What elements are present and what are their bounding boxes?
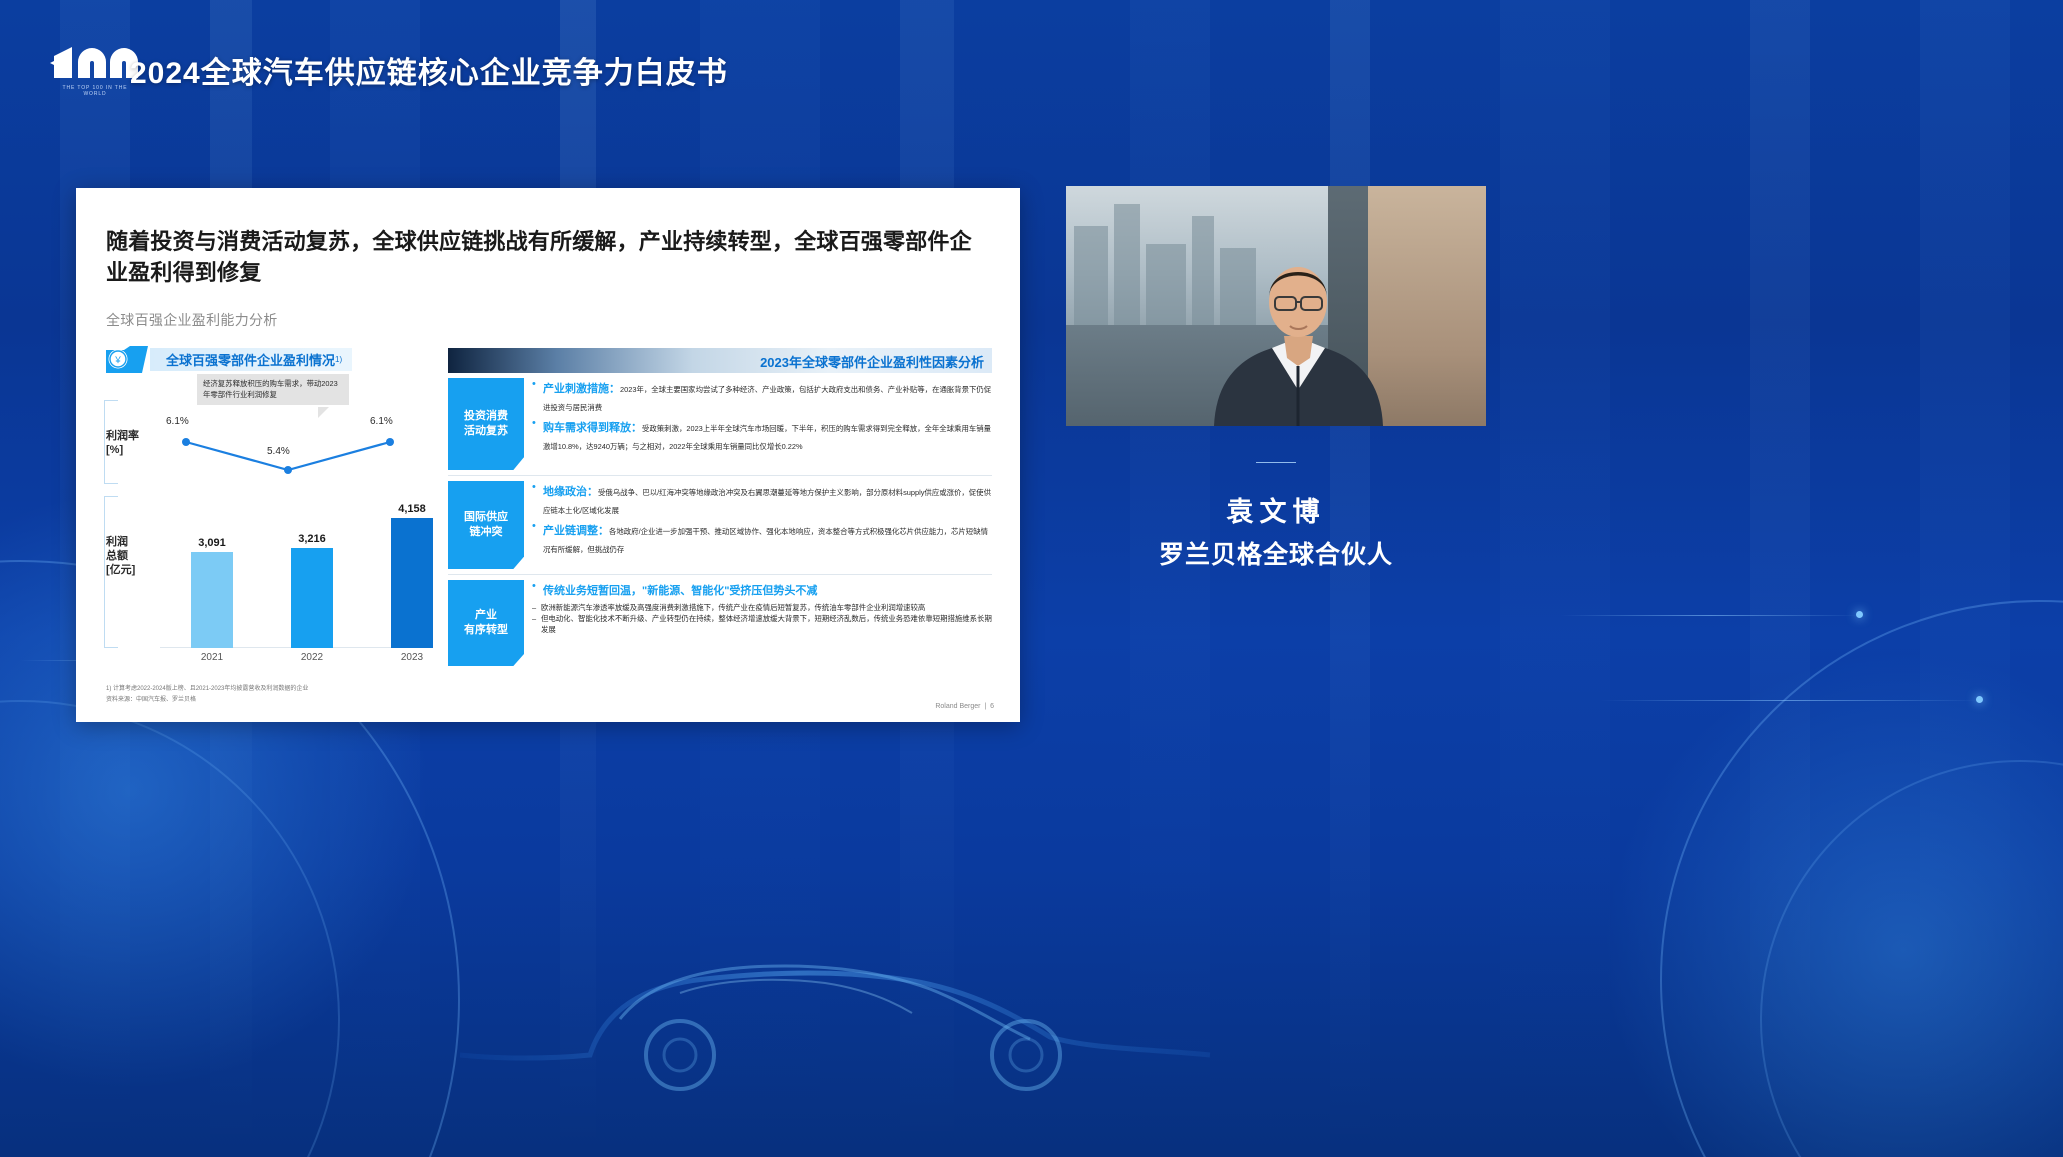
factor-body: 产业刺激措施：2023年，全球主要国家均尝试了多种经济、产业政策，包括扩大政府支… — [532, 378, 992, 470]
x-tick-2022: 2022 — [282, 652, 342, 663]
right-factor-panel: 2023年全球零部件企业盈利性因素分析 投资消费 活动复苏 产业刺激措施：202… — [448, 348, 992, 668]
factor-category-line1: 投资消费 — [464, 409, 508, 424]
factor-group-investment: 投资消费 活动复苏 产业刺激措施：2023年，全球主要国家均尝试了多种经济、产业… — [448, 373, 992, 470]
right-panel-header: 2023年全球零部件企业盈利性因素分析 — [448, 348, 992, 373]
factor-dash-item: 但电动化、智能化技术不断升级、产业转型仍在持续，整体经济增速放缓大背景下，短期经… — [532, 613, 992, 635]
left-chart-panel: ￥ 全球百强零部件企业盈利情况1) 经济复苏释放积压的购车需求，带动2023年零… — [104, 348, 434, 668]
bar-2021 — [191, 552, 233, 648]
factor-category-label: 产业 有序转型 — [448, 580, 524, 666]
bg-stripe — [1330, 0, 1370, 1157]
presentation-slide: 随着投资与消费活动复苏，全球供应链挑战有所缓解，产业持续转型，全球百强零部件企业… — [76, 188, 1020, 722]
decorative-dot — [1976, 696, 1983, 703]
factor-dash-item: 欧洲新能源汽车渗透率放缓及高强度消费刺激措施下，传统产业在疫情后短暂复苏，传统油… — [532, 602, 992, 613]
factor-bullet: 购车需求得到释放：受政策刺激，2023上半年全球汽车市场回暖，下半年，积压的购车… — [532, 418, 992, 454]
line-point-2023 — [386, 438, 394, 446]
factor-category-line1: 产业 — [475, 608, 497, 623]
x-tick-2021: 2021 — [182, 652, 242, 663]
header: THE TOP 100 IN THE WORLD 2024全球汽车供应链核心企业… — [0, 0, 2063, 140]
brand-name: Roland Berger — [935, 703, 980, 710]
car-silhouette — [430, 859, 1250, 1099]
bar-plot: 3,091 3,216 4,158 — [160, 504, 428, 648]
decorative-line — [1600, 700, 1980, 701]
factor-bullet-title: 产业刺激措施： — [543, 383, 620, 395]
chart-area: 经济复苏释放积压的购车需求，带动2023年零部件行业利润修复 利润率[%] 6.… — [104, 378, 434, 668]
factor-bullet: 产业刺激措施：2023年，全球主要国家均尝试了多种经济、产业政策，包括扩大政府支… — [532, 379, 992, 415]
decorative-dot — [1856, 611, 1863, 618]
left-panel-title: 全球百强零部件企业盈利情况1) — [150, 348, 352, 371]
factor-group-transformation: 产业 有序转型 传统业务短暂回温，"新能源、智能化"受挤压但势头不减 欧洲新能源… — [448, 575, 992, 666]
chart-callout-tail — [318, 407, 329, 418]
factor-body: 地缘政治：受俄乌战争、巴以/红海冲突等地缘政治冲突及右翼思潮蔓延等地方保护主义影… — [532, 481, 992, 569]
line-point-2021 — [182, 438, 190, 446]
line-value-2023: 6.1% — [370, 416, 393, 427]
factor-bullet-title: 产业链调整： — [543, 525, 609, 537]
slide-brand: Roland Berger | 6 — [935, 703, 994, 710]
factor-category-line2: 有序转型 — [464, 623, 508, 638]
bar-value-2022: 3,216 — [282, 533, 342, 545]
factor-bullet-title: 购车需求得到释放： — [543, 422, 642, 434]
footnote-1: 1) 计算考虑2022-2024版上榜、且2021-2023年均披露营收及利润数… — [106, 684, 308, 695]
x-tick-2023: 2023 — [382, 652, 442, 663]
footnotes: 1) 计算考虑2022-2024版上榜、且2021-2023年均披露营收及利润数… — [106, 684, 308, 707]
factor-category-label: 国际供应 链冲突 — [448, 481, 524, 569]
video-building — [1146, 244, 1186, 336]
bg-stripe — [1500, 0, 1610, 1157]
line-point-2022 — [284, 466, 292, 474]
factor-body: 传统业务短暂回温，"新能源、智能化"受挤压但势头不减 欧洲新能源汽车渗透率放缓及… — [532, 580, 992, 666]
factor-bullet-title: 地缘政治： — [543, 486, 598, 498]
speaker-avatar — [1206, 240, 1391, 426]
speaker-video-feed[interactable] — [1066, 186, 1486, 426]
factor-bullet-text: 受俄乌战争、巴以/红海冲突等地缘政治冲突及右翼思潮蔓延等地方保护主义影响，部分原… — [543, 488, 991, 515]
factor-bullet: 地缘政治：受俄乌战争、巴以/红海冲突等地缘政治冲突及右翼思潮蔓延等地方保护主义影… — [532, 482, 992, 518]
footnote-source: 资料来源：中国汽车报、罗兰贝格 — [106, 695, 308, 706]
left-panel-header: ￥ 全球百强零部件企业盈利情况1) — [104, 348, 434, 374]
speaker-divider — [1256, 462, 1296, 463]
bar-2022 — [291, 548, 333, 648]
factor-category-label: 投资消费 活动复苏 — [448, 378, 524, 470]
line-value-2021: 6.1% — [166, 416, 189, 427]
factor-category-line2: 链冲突 — [470, 525, 503, 540]
chart-callout: 经济复苏释放积压的购车需求，带动2023年零部件行业利润修复 — [197, 374, 349, 405]
logo-subtext: THE TOP 100 IN THE WORLD — [50, 85, 140, 97]
video-building — [1114, 204, 1140, 336]
factor-bullet: 产业链调整：各地政府/企业进一步加强干预、推动区域协作、强化本地响应，资本整合等… — [532, 521, 992, 557]
left-panel-title-text: 全球百强零部件企业盈利情况 — [166, 350, 335, 369]
factor-bullet-text: 各地政府/企业进一步加强干预、推动区域协作、强化本地响应，资本整合等方式积极强化… — [543, 527, 988, 554]
factor-bullet: 传统业务短暂回温，"新能源、智能化"受挤压但势头不减 — [532, 581, 992, 599]
factor-bullet-title: 传统业务短暂回温，"新能源、智能化"受挤压但势头不减 — [543, 585, 817, 597]
slide-subtitle: 全球百强企业盈利能力分析 — [106, 310, 278, 330]
slide-headline: 随着投资与消费活动复苏，全球供应链挑战有所缓解，产业持续转型，全球百强零部件企业… — [106, 226, 986, 288]
profit-rate-line-chart — [164, 426, 419, 494]
profit-icon: ￥ — [104, 346, 150, 373]
bar-value-2023: 4,158 — [382, 503, 442, 515]
svg-text:￥: ￥ — [113, 355, 122, 365]
speaker-name: 袁文博 — [1066, 490, 1486, 529]
bar-value-2021: 3,091 — [182, 537, 242, 549]
factor-group-supplychain: 国际供应 链冲突 地缘政治：受俄乌战争、巴以/红海冲突等地缘政治冲突及右翼思潮蔓… — [448, 476, 992, 569]
right-panel-title: 2023年全球零部件企业盈利性因素分析 — [760, 352, 984, 371]
banner-title: 2024全球汽车供应链核心企业竞争力白皮书 — [130, 48, 728, 92]
speaker-title: 罗兰贝格全球合伙人 — [1046, 535, 1506, 571]
bar-2023 — [391, 518, 433, 648]
decorative-line — [1560, 615, 1860, 616]
logo-100-icon: THE TOP 100 IN THE WORLD — [50, 44, 140, 96]
page-number: 6 — [990, 703, 994, 710]
line-value-2022: 5.4% — [267, 446, 290, 457]
factor-category-line2: 活动复苏 — [464, 424, 508, 439]
left-panel-title-sup: 1) — [335, 355, 342, 364]
line-axis-label: 利润率[%] — [106, 430, 139, 458]
factor-category-line1: 国际供应 — [464, 510, 508, 525]
video-building — [1074, 226, 1108, 336]
bar-axis-label: 利润总额[亿元] — [106, 536, 135, 577]
